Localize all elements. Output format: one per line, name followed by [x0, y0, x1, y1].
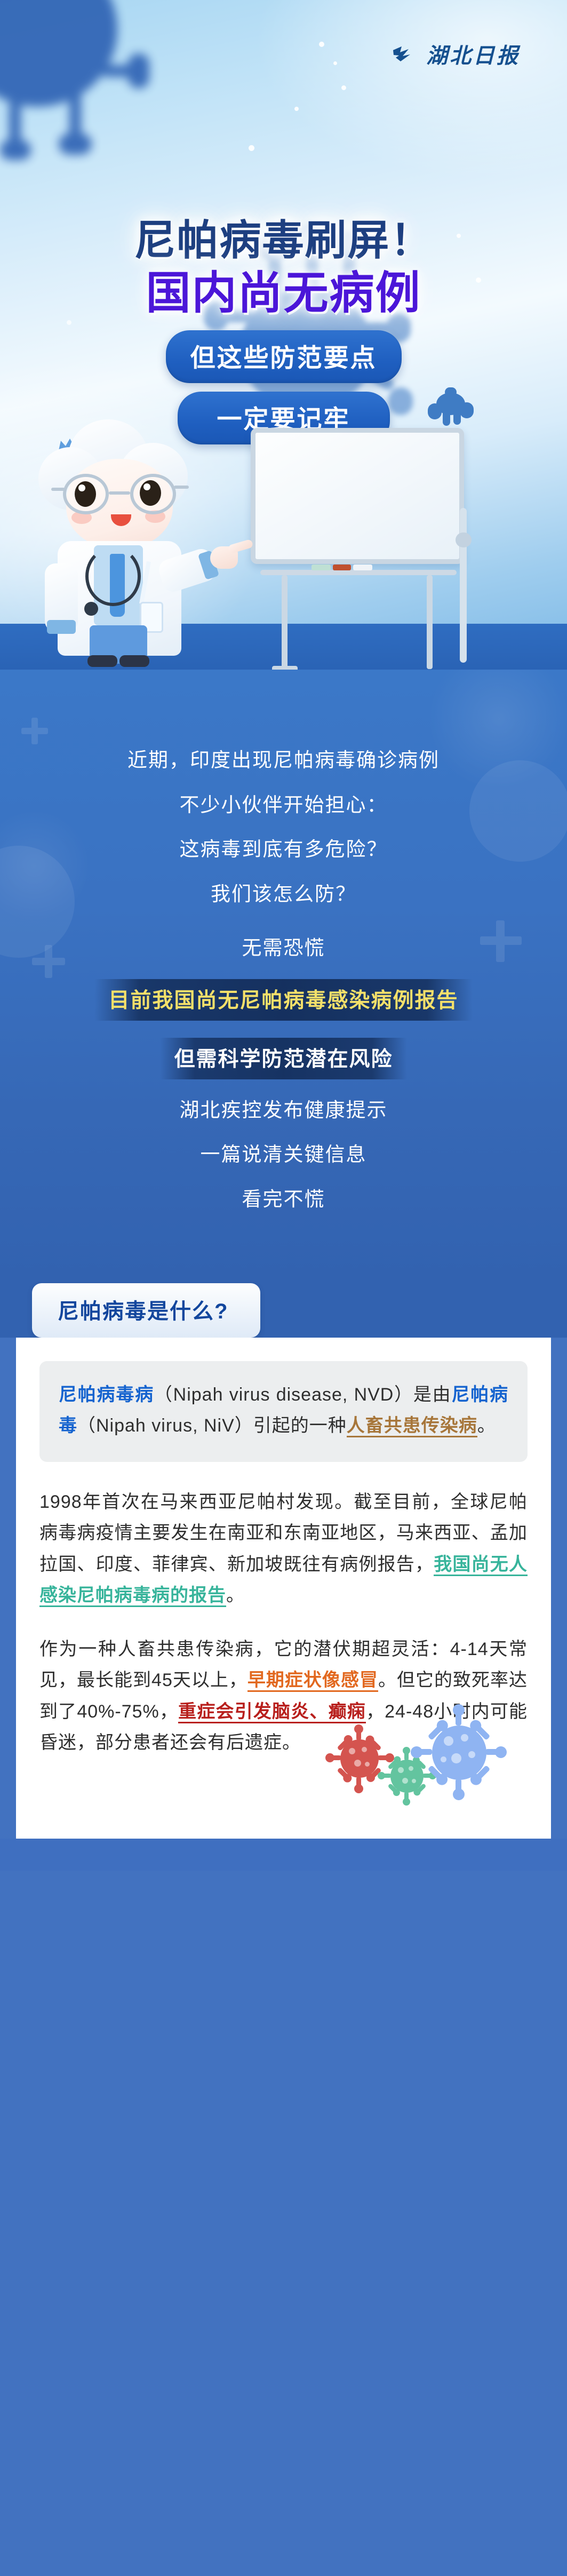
green-virus	[386, 1755, 428, 1797]
term-nvd: 尼帕病毒病	[59, 1385, 154, 1405]
shoe-right	[119, 655, 149, 667]
hubei-daily-wave-mark	[393, 45, 420, 63]
pointing-finger	[228, 539, 254, 554]
floating-virus-icon	[427, 391, 475, 428]
term-zoonosis: 人畜共患传染病	[347, 1416, 477, 1437]
intro-tail-3: 看完不慌	[0, 1177, 567, 1222]
marker-white	[353, 565, 372, 570]
whiteboard-surface	[251, 428, 464, 564]
cloud-doctor-mascot	[38, 414, 214, 659]
whiteboard-tray	[260, 570, 457, 575]
intro-line-1: 近期，印度出现尼帕病毒确诊病例	[0, 738, 567, 783]
marker-green	[312, 565, 331, 570]
footer-strip	[0, 1839, 567, 1871]
stethoscope-icon	[85, 546, 141, 606]
headline-line-2: 国内尚无病例	[0, 269, 567, 317]
intro-line-2: 不少小伙伴开始担心：	[0, 783, 567, 828]
headline-line-1: 尼帕病毒刷屏！	[0, 218, 567, 263]
infographic-page: 湖北日报 尼帕病毒刷屏！ 国内尚无病例 但这些防范要点 一定要记牢	[0, 0, 567, 2576]
sparkle-dot	[319, 42, 324, 47]
sparkle-dot	[294, 107, 299, 111]
whiteboard-leg	[427, 575, 433, 669]
quote-text-a: （Nipah virus disease, NVD）是由	[154, 1385, 452, 1405]
history-text-b: 。	[226, 1585, 245, 1605]
highlight-severe-complications: 重症会引发脑炎、癫痫	[178, 1702, 366, 1723]
blue-virus	[425, 1718, 494, 1787]
quote-text-c: 。	[477, 1416, 496, 1436]
virus-decoration-cluster	[335, 1722, 538, 1824]
definition-quote-box: 尼帕病毒病（Nipah virus disease, NVD）是由尼帕病毒（Ni…	[39, 1361, 528, 1462]
eye-right	[140, 480, 161, 506]
sparkle-dot	[333, 61, 337, 65]
whiteboard-foot	[272, 666, 298, 670]
cuff-left	[47, 620, 76, 634]
intro-tail-1: 湖北疾控发布健康提示	[0, 1088, 567, 1133]
red-virus	[335, 1734, 384, 1783]
definition-paragraph: 尼帕病毒病（Nipah virus disease, NVD）是由尼帕病毒（Ni…	[59, 1379, 508, 1442]
intro-line-3: 这病毒到底有多危险？	[0, 827, 567, 872]
intro-highlight-white: 但需科学防范潜在风险	[160, 1038, 406, 1079]
intro-line-4: 我们该怎么防？	[0, 872, 567, 917]
section-heading: 尼帕病毒是什么?	[32, 1283, 260, 1338]
hero-section: 湖北日报 尼帕病毒刷屏！ 国内尚无病例 但这些防范要点 一定要记牢	[0, 0, 567, 670]
intro-highlight-yellow: 目前我国尚无尼帕病毒感染病例报告	[94, 979, 472, 1021]
article-card: 尼帕病毒病（Nipah virus disease, NVD）是由尼帕病毒（Ni…	[16, 1338, 551, 1839]
eye-left	[75, 481, 96, 507]
intro-tail-2: 一篇说清关键信息	[0, 1132, 567, 1177]
intro-calm-line: 无需恐慌	[0, 926, 567, 971]
whiteboard	[251, 428, 480, 652]
history-paragraph: 1998年首次在马来西亚尼帕村发现。截至目前，全球尼帕病毒病疫情主要发生在南亚和…	[39, 1486, 528, 1611]
doctor-scene	[0, 395, 567, 670]
background-virus-large	[0, 0, 203, 181]
whiteboard-pole	[460, 508, 467, 663]
brand-logo-text: 湖北日报	[426, 38, 520, 69]
sparkle-dot	[249, 145, 254, 151]
highlight-flu-like-symptoms: 早期症状像感冒	[247, 1670, 378, 1692]
shoe-left	[87, 655, 117, 667]
intro-panel: 近期，印度出现尼帕病毒确诊病例 不少小伙伴开始担心： 这病毒到底有多危险？ 我们…	[0, 670, 567, 1283]
quote-text-b: （Nipah virus, NiV）引起的一种	[77, 1416, 347, 1436]
whiteboard-knob	[456, 532, 472, 547]
section-heading-bar: 尼帕病毒是什么?	[0, 1283, 567, 1338]
marker-red	[333, 565, 351, 570]
brand-logo[interactable]: 湖北日报	[393, 38, 520, 69]
hero-pill-1[interactable]: 但这些防范要点	[166, 330, 402, 383]
sparkle-dot	[341, 85, 346, 90]
stethoscope-bell	[84, 602, 98, 616]
whiteboard-leg	[282, 575, 288, 669]
